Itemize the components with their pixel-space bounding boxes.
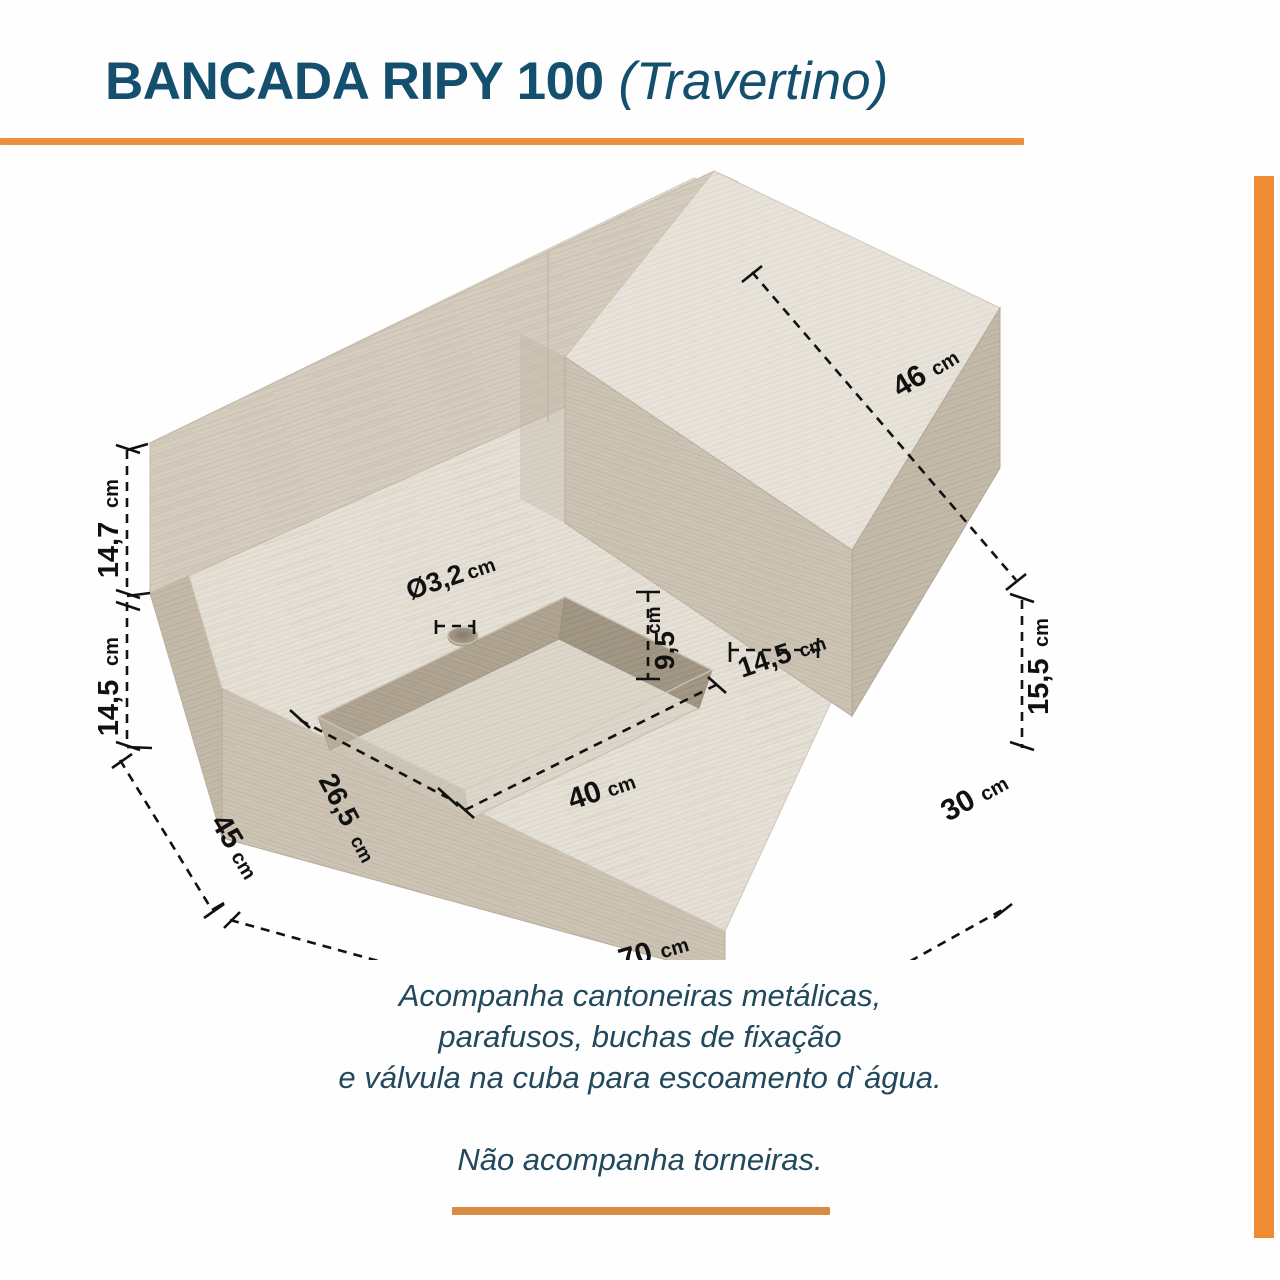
page-title: BANCADA RIPY 100 (Travertino) xyxy=(105,55,888,108)
caption-line-2: parafusos, buchas de fixação xyxy=(0,1016,1280,1057)
dimension-label-slab-thickness: 14,5 cm xyxy=(93,637,125,736)
svg-text:cm: cm xyxy=(101,637,123,666)
title-underline-rule xyxy=(0,138,1024,145)
svg-text:cm: cm xyxy=(644,607,665,634)
svg-text:cm: cm xyxy=(1031,618,1053,647)
countertop-isometric-drawing: 14,7 cm 14,5 cm Ø3,2 cm 9,5 cm 14,5 cm xyxy=(0,150,1280,960)
dimension-label-backsplash-height: 14,7 cm xyxy=(93,479,125,578)
caption-paragraph-includes: Acompanha cantoneiras metálicas, parafus… xyxy=(0,975,1280,1099)
caption-line-1: Acompanha cantoneiras metálicas, xyxy=(0,975,1280,1016)
svg-text:cm: cm xyxy=(101,479,123,508)
svg-text:cm: cm xyxy=(976,773,1012,806)
page-title-material: (Travertino) xyxy=(604,52,889,111)
caption-line-4: Não acompanha torneiras. xyxy=(0,1139,1280,1180)
caption-paragraph-excludes: Não acompanha torneiras. xyxy=(0,1139,1280,1180)
deck-shadow xyxy=(520,333,565,523)
dimension-label-right-width: 30 cm xyxy=(935,765,1013,828)
product-caption: Acompanha cantoneiras metálicas, parafus… xyxy=(0,975,1280,1180)
svg-text:9,5: 9,5 xyxy=(649,631,680,670)
svg-text:30: 30 xyxy=(935,783,980,828)
svg-text:14,5: 14,5 xyxy=(93,680,125,736)
bottom-accent-bar xyxy=(452,1207,830,1215)
product-diagram: 14,7 cm 14,5 cm Ø3,2 cm 9,5 cm 14,5 cm xyxy=(0,150,1280,960)
svg-text:cm: cm xyxy=(226,848,260,884)
dimension-label-right-thickness: 15,5 cm xyxy=(1023,618,1055,715)
svg-text:14,7: 14,7 xyxy=(93,522,125,578)
page-title-main: BANCADA RIPY 100 xyxy=(105,52,604,111)
product-spec-sheet: BANCADA RIPY 100 (Travertino) xyxy=(0,0,1280,1280)
caption-line-3: e válvula na cuba para escoamento d`água… xyxy=(0,1057,1280,1098)
svg-text:15,5: 15,5 xyxy=(1023,659,1055,715)
